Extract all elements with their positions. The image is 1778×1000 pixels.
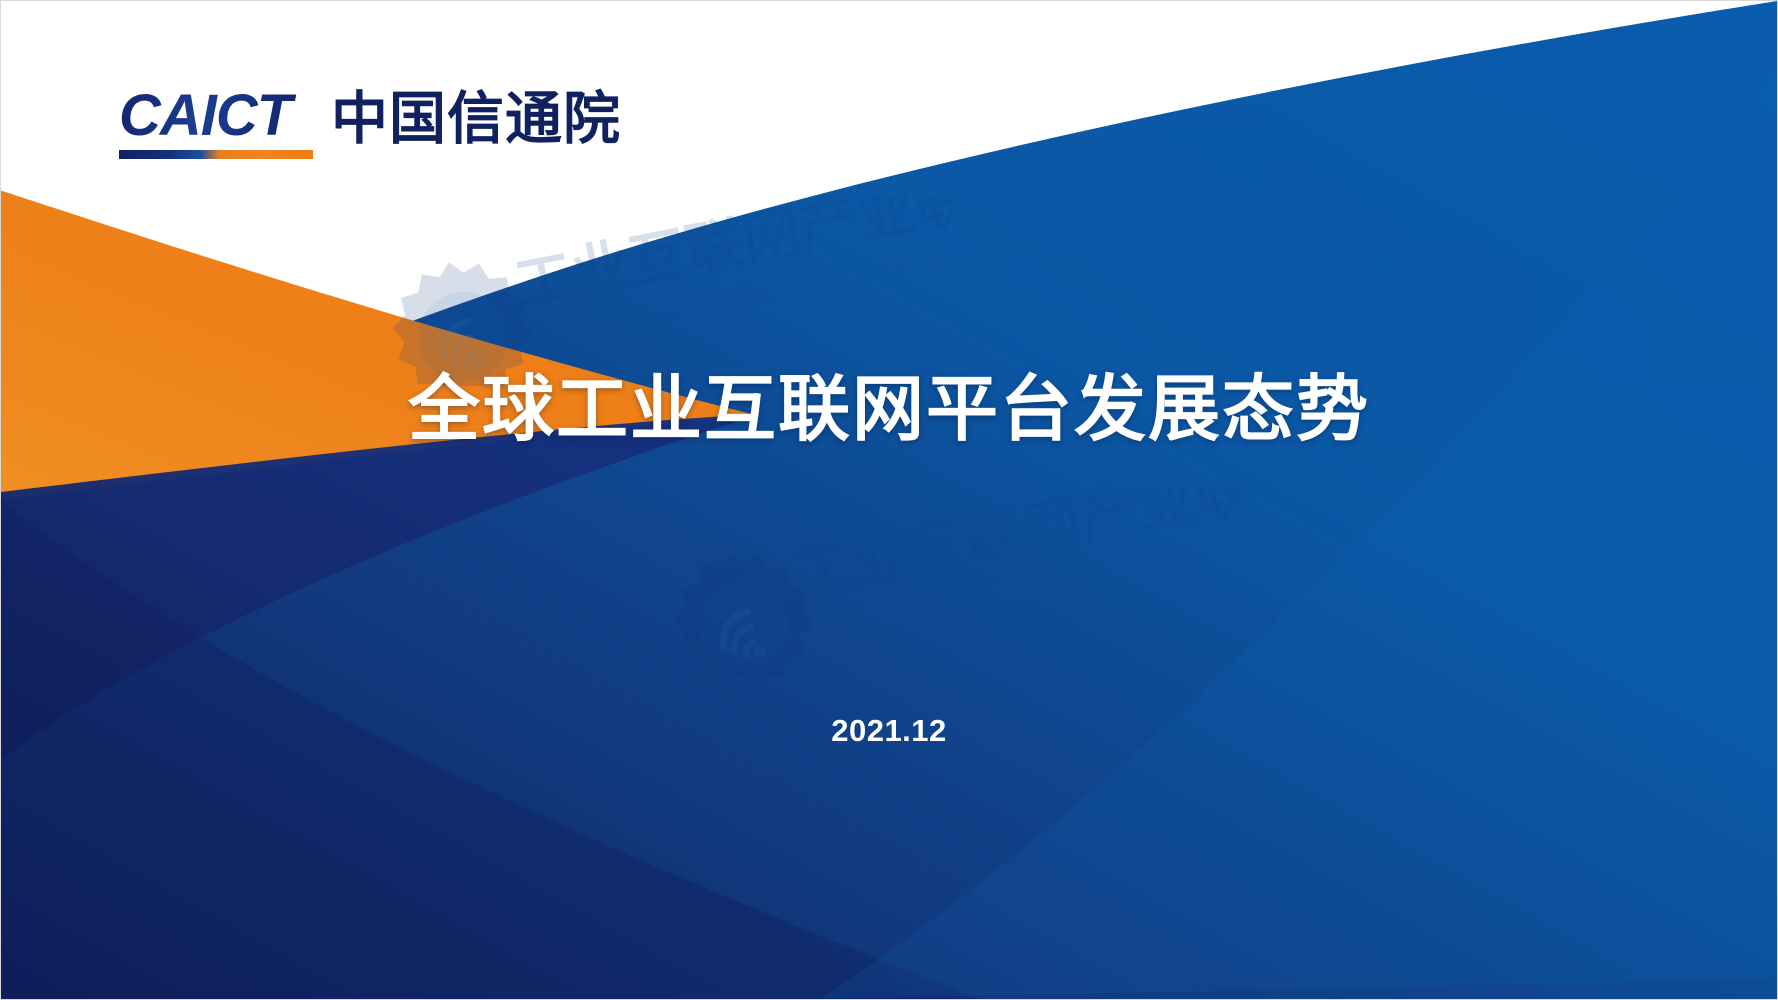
caict-logo[interactable]: CAICT 中国信通院 <box>119 87 621 159</box>
caict-chinese-name: 中国信通院 <box>331 91 621 159</box>
logo-underline-bar <box>119 150 313 159</box>
slide-title: 全球工业互联网平台发展态势 <box>1 369 1777 452</box>
slide-date: 2021.12 <box>1 713 1777 749</box>
title-slide: 工业互联网产业联盟 Alliance of Industrial Interne… <box>0 0 1778 1000</box>
title-block: 全球工业互联网平台发展态势 <box>1 369 1777 452</box>
caict-logo-row: CAICT 中国信通院 <box>119 87 621 159</box>
caict-acronym: CAICT <box>119 87 313 145</box>
caict-logo-mark: CAICT <box>119 87 313 159</box>
